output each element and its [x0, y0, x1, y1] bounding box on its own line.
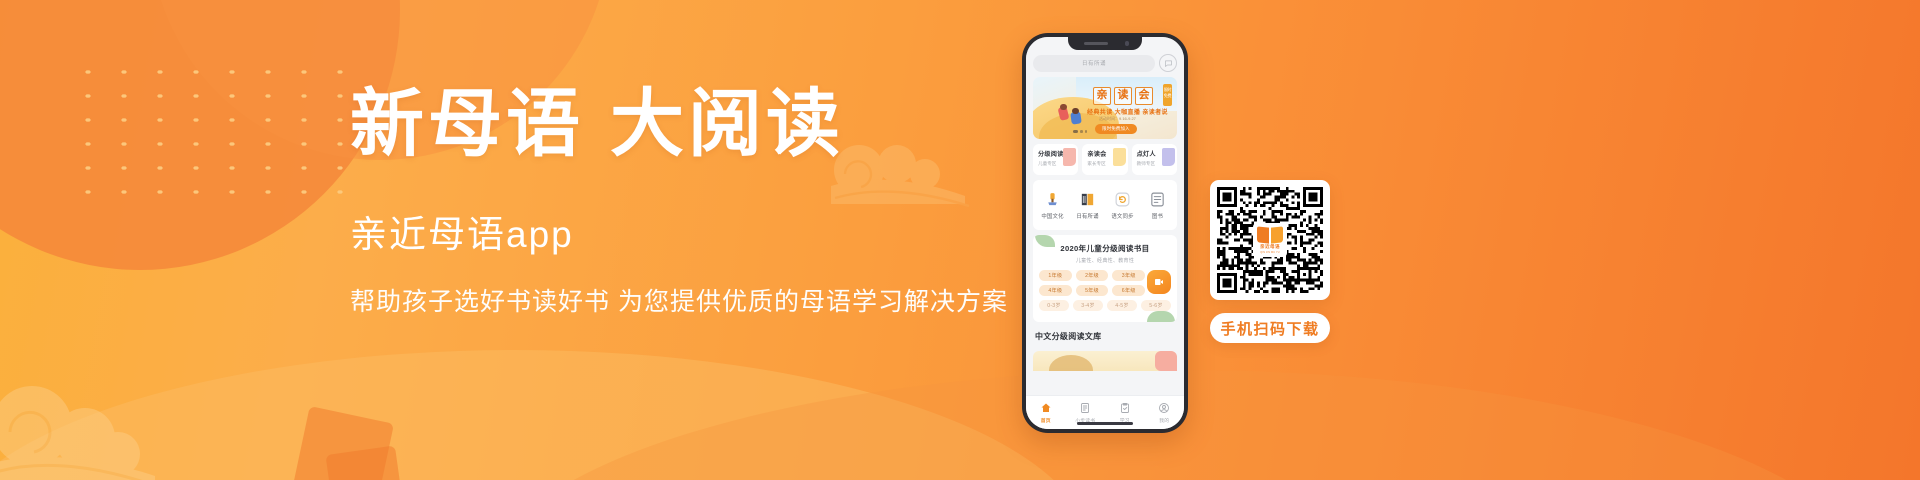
grade-chip[interactable]: 5年级 [1076, 285, 1109, 296]
age-chip[interactable]: 5-6岁 [1141, 300, 1171, 311]
qr-center-logo: 亲近母语 QIN JIN MU YU [1253, 223, 1287, 257]
banner-headline: 新母语大阅读 [350, 88, 1010, 162]
logo-book-icon [1257, 227, 1283, 243]
zone-card-teacher[interactable]: 点灯人 教师专区 [1132, 144, 1177, 175]
promo-tag: 限时免费 [1163, 84, 1172, 106]
zone-badge-icon [1063, 148, 1076, 166]
tab-profile[interactable]: 我的 [1147, 401, 1181, 424]
age-chip[interactable]: 3-4岁 [1073, 300, 1103, 311]
quick-item-culture[interactable]: 中国文化 [1037, 190, 1069, 220]
banner-text-block: 新母语大阅读 亲近母语app 帮助孩子选好书读好书 为您提供优质的母语学习解决方… [350, 88, 1010, 318]
decor-dot-grid [70, 60, 350, 210]
culture-lamp-icon [1044, 190, 1062, 208]
tab-label: 首页 [1041, 417, 1051, 424]
app-search-row: 日有所诵 [1033, 54, 1177, 72]
quick-item-label: 图书 [1152, 212, 1163, 220]
phone-mockup: 日有所诵 [1022, 33, 1188, 433]
decor-leaf-icon [1035, 235, 1055, 247]
promo-kid-red-head [1060, 104, 1067, 111]
age-row: 0-3岁 3-4岁 4-5岁 5-6岁 [1039, 300, 1171, 311]
zone-card-parent-club[interactable]: 亲读会 家长专区 [1082, 144, 1127, 175]
quick-item-sync[interactable]: 语文同步 [1107, 190, 1139, 220]
profile-icon [1158, 401, 1171, 414]
promo-title: 亲 读 会 [1093, 87, 1153, 105]
grade-chip-area: 1年级 2年级 3年级 4年级 5年级 6年级 0-3岁 3-4岁 4- [1039, 270, 1171, 311]
age-chip[interactable]: 0-3岁 [1039, 300, 1069, 311]
study-check-icon [1118, 401, 1131, 414]
tab-label: 我的 [1159, 417, 1169, 424]
reading-icon [1079, 401, 1092, 414]
booklist-title: 2020年儿童分级阅读书目 [1039, 243, 1171, 254]
decor-cube-2 [325, 445, 404, 480]
promo-banner: 新母语大阅读 亲近母语app 帮助孩子选好书读好书 为您提供优质的母语学习解决方… [0, 0, 1920, 480]
zone-card-graded-reading[interactable]: 分级阅读 儿童专区 [1033, 144, 1078, 175]
quick-item-recite[interactable]: 日有所诵 [1072, 190, 1104, 220]
grade-chip[interactable]: 2年级 [1076, 270, 1109, 281]
tab-study[interactable]: 学习 [1108, 401, 1142, 424]
age-chip[interactable]: 4-5岁 [1107, 300, 1137, 311]
search-input[interactable]: 日有所诵 [1033, 55, 1155, 72]
grade-chip[interactable]: 4年级 [1039, 285, 1072, 296]
promo-kid-blue-head [1072, 108, 1079, 115]
tab-home[interactable]: 首页 [1029, 401, 1063, 424]
zone-row: 分级阅读 儿童专区 亲读会 家长专区 点灯人 教师专区 [1033, 144, 1177, 175]
decor-leaf-icon-2 [1147, 311, 1175, 322]
grade-chip[interactable]: 3年级 [1112, 270, 1145, 281]
banner-tagline: 帮助孩子选好书读好书 为您提供优质的母语学习解决方案 [350, 282, 1010, 318]
quick-item-books[interactable]: 图书 [1142, 190, 1174, 220]
banner-subline: 亲近母语app [350, 204, 1010, 258]
grade-chip[interactable]: 1年级 [1039, 270, 1072, 281]
logo-text-en: QIN JIN MU YU [1260, 251, 1279, 254]
search-placeholder: 日有所诵 [1082, 59, 1106, 67]
library-section-title: 中文分级阅读文库 [1033, 327, 1177, 342]
phone-home-indicator [1077, 422, 1133, 425]
video-play-icon[interactable] [1147, 270, 1171, 294]
grade-chip[interactable]: 6年级 [1112, 285, 1145, 296]
library-arc-decor [1049, 355, 1093, 371]
logo-text-cn: 亲近母语 [1260, 244, 1280, 250]
decor-cloud-icon-left [0, 380, 180, 480]
quick-icon-row: 中国文化 日有所诵 语文同步 [1033, 180, 1177, 230]
promo-title-char: 亲 [1093, 87, 1111, 105]
qr-code-card: 亲近母语 QIN JIN MU YU [1210, 180, 1330, 300]
chat-bubble-icon[interactable] [1159, 54, 1177, 72]
recite-book-icon [1079, 190, 1097, 208]
zone-badge-icon [1162, 148, 1175, 166]
promo-cta-button[interactable]: 限时免费加入 [1095, 124, 1137, 134]
app-screen: 日有所诵 [1026, 37, 1184, 429]
decor-circle-top-left [0, 0, 400, 270]
headline-part-1: 新母语 [350, 84, 584, 166]
phone-notch [1068, 37, 1142, 50]
library-card[interactable] [1033, 351, 1177, 371]
quick-item-label: 日有所诵 [1076, 212, 1098, 220]
promo-carousel-dots[interactable] [1073, 130, 1087, 133]
tab-reading[interactable]: 小步读书 [1068, 401, 1102, 424]
book-icon [1149, 190, 1167, 208]
booklist-subtitle: 儿童性、经典性、教育性 [1039, 257, 1171, 264]
promo-title-char: 会 [1135, 87, 1153, 105]
qr-download-block: 亲近母语 QIN JIN MU YU 手机扫码下载 [1210, 180, 1330, 343]
promo-title-char: 读 [1114, 87, 1132, 105]
app-promo-banner[interactable]: 亲 读 会 限时免费 经典共读 大咖直播 亲读者说 活动时间：9.16-9.27… [1033, 77, 1177, 139]
promo-subtitle: 经典共读 大咖直播 亲读者说 [1087, 107, 1168, 116]
decor-cube [292, 406, 394, 480]
promo-date: 活动时间：9.16-9.27 [1099, 116, 1136, 122]
booklist-card: 2020年儿童分级阅读书目 儿童性、经典性、教育性 1年级 2年级 3年级 4年… [1033, 235, 1177, 322]
library-right-decor [1155, 351, 1177, 371]
quick-item-label: 语文同步 [1111, 212, 1133, 220]
sync-icon [1114, 190, 1132, 208]
phone-screen-frame: 日有所诵 [1026, 37, 1184, 429]
headline-part-2: 大阅读 [610, 84, 844, 166]
zone-badge-icon [1113, 148, 1126, 166]
decor-wave-bottom [0, 350, 1090, 480]
home-icon [1039, 401, 1052, 414]
download-button[interactable]: 手机扫码下载 [1210, 313, 1330, 343]
quick-item-label: 中国文化 [1041, 212, 1063, 220]
